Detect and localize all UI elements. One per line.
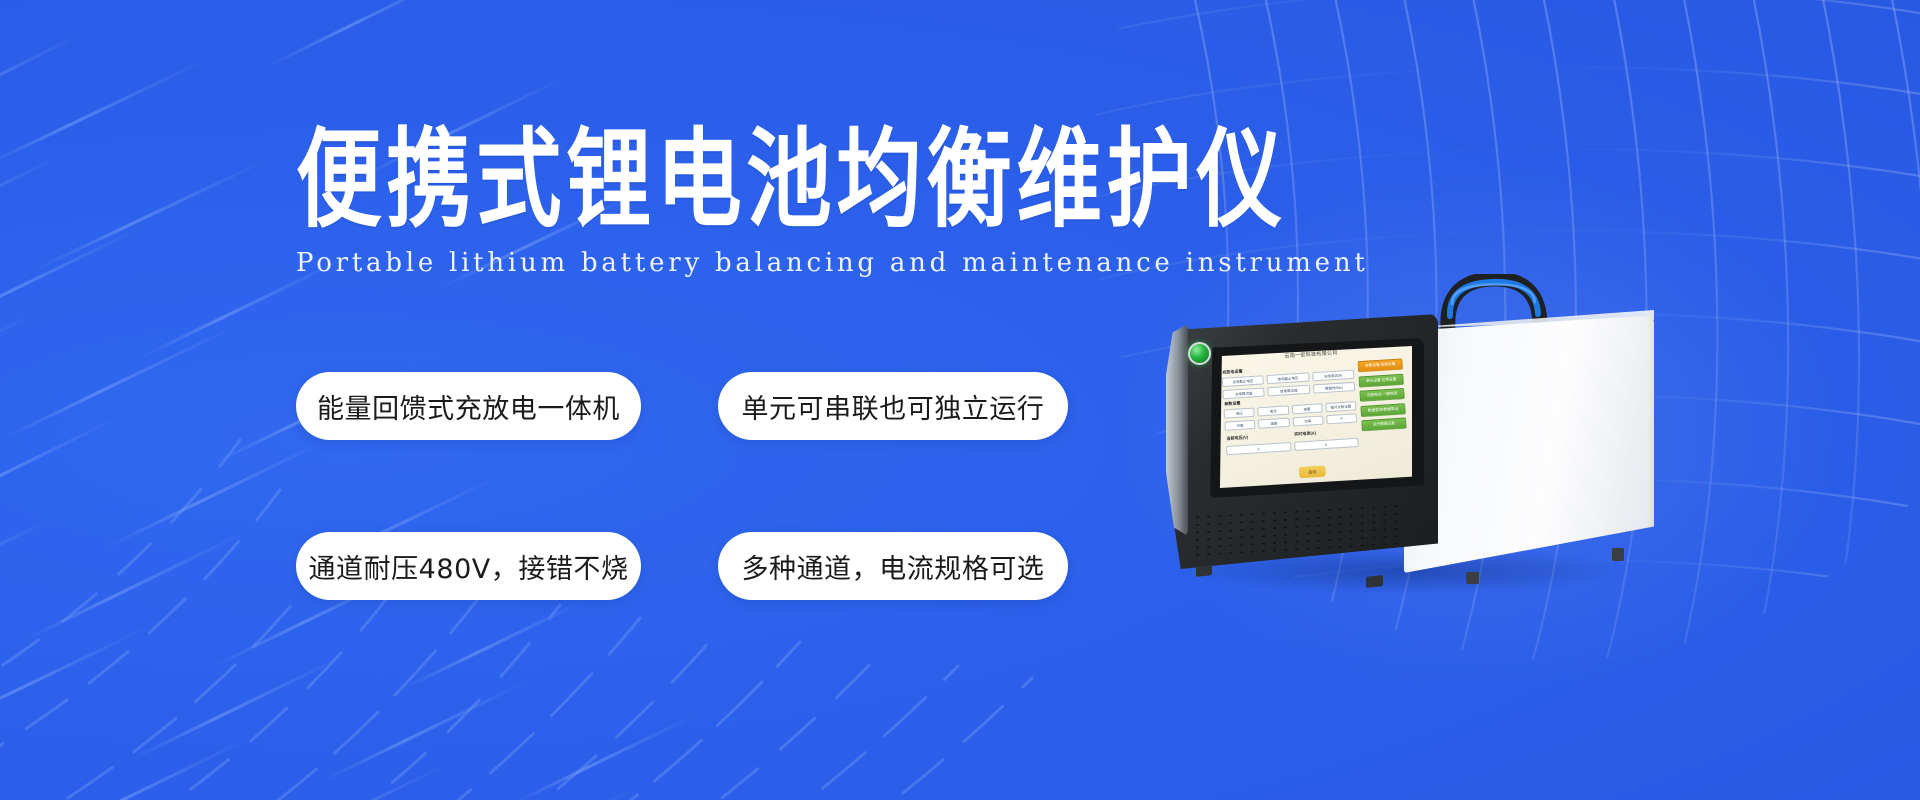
device-foot	[1612, 548, 1624, 561]
screen-field[interactable]: 静置时间(s)	[1313, 381, 1356, 393]
device-left-edge	[1166, 324, 1188, 536]
screen-field[interactable]: 放电限流值	[1267, 384, 1310, 396]
screen-group-label: 当前电压(V)	[1226, 431, 1290, 441]
screen-field[interactable]: 电流	[1257, 405, 1288, 416]
screen-field[interactable]: 电压	[1224, 408, 1255, 419]
screen-field[interactable]: 0	[1226, 442, 1291, 455]
screen-field[interactable]: 温度	[1258, 417, 1289, 428]
feature-pill-list: 能量回馈式充放电一体机 单元可串联也可独立运行 通道耐压480V，接错不烧 多种…	[296, 372, 1068, 600]
screen-side-button[interactable]: 参数设置 系统设置	[1357, 358, 1402, 372]
screen-group-label: 实时电流(A)	[1294, 427, 1358, 437]
screen-field[interactable]: 0	[1294, 438, 1359, 451]
screen-field[interactable]: 容量	[1291, 403, 1322, 414]
screen-field[interactable]: 8	[1326, 413, 1357, 424]
device-foot	[1366, 575, 1383, 588]
screen-start-button[interactable]: 启动	[1299, 465, 1326, 478]
screen-side-button[interactable]: 数据查询/数据导出	[1360, 403, 1405, 417]
screen-side-button[interactable]: 单元设置 功率设置	[1358, 373, 1403, 387]
feature-pill[interactable]: 通道耐压480V，接错不烧	[296, 532, 641, 600]
screen-field[interactable]: 循环次数设置	[1325, 401, 1356, 412]
screen-field[interactable]: 充电截止电压	[1222, 375, 1265, 387]
screen-field[interactable]: 充电限流值	[1222, 387, 1265, 399]
screen-field[interactable]: 内阻	[1224, 419, 1255, 430]
feature-pill[interactable]: 能量回馈式充放电一体机	[296, 372, 641, 440]
device-foot	[1466, 572, 1479, 584]
device-touchscreen[interactable]: 云南一宏科技有限公司 充放电设置 充电截止电压 放电截止电压 充电电流(A) 充…	[1218, 346, 1412, 488]
screen-field[interactable]: 放电截止电压	[1267, 372, 1310, 384]
screen-field[interactable]: 充电电流(A)	[1312, 370, 1355, 382]
screen-field[interactable]: 功率	[1292, 415, 1323, 426]
feature-pill[interactable]: 单元可串联也可独立运行	[718, 372, 1068, 440]
screen-side-button[interactable]: 运行数据记录	[1361, 417, 1406, 431]
page-title: 便携式锂电池均衡维护仪	[296, 126, 1363, 233]
product-image: 一宏科技 YIHONG TECHNOLOGY 云南一宏科技有限公司 充放电设置 …	[1160, 280, 1660, 620]
headline-block: 便携式锂电池均衡维护仪 Portable lithium battery bal…	[296, 126, 1396, 279]
feature-pill[interactable]: 多种通道，电流规格可选	[718, 532, 1068, 600]
power-button[interactable]	[1188, 342, 1211, 365]
hero-banner: 便携式锂电池均衡维护仪 Portable lithium battery bal…	[0, 0, 1920, 800]
screen-side-button[interactable]: 充放电试 一键检测	[1359, 388, 1404, 402]
device-side-panel: 一宏科技 YIHONG TECHNOLOGY	[1404, 315, 1654, 573]
device-foot	[1196, 565, 1212, 577]
